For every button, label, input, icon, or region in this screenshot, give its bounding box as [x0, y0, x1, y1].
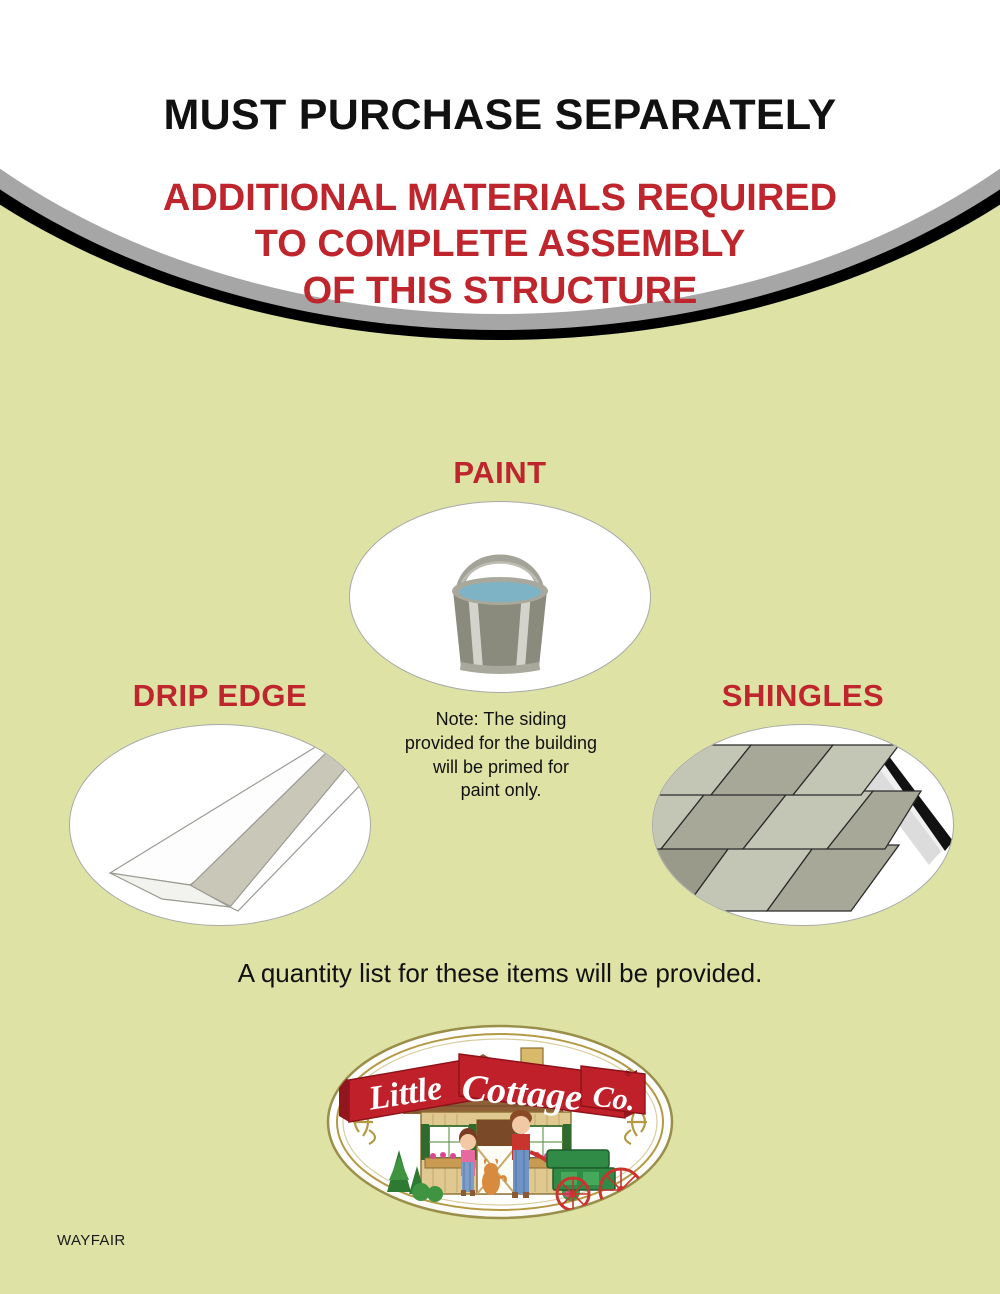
drip-edge-icon: [69, 724, 371, 926]
poster-page: MUST PURCHASE SEPARATELY ADDITIONAL MATE…: [0, 0, 1000, 1294]
logo-word-co: Co.: [591, 1080, 637, 1118]
subtitle-line-1: ADDITIONAL MATERIALS REQUIRED: [0, 175, 1000, 221]
item-drip-edge: DRIP EDGE: [55, 678, 385, 926]
paint-note: Note: The siding provided for the buildi…: [372, 708, 630, 803]
item-shingles: SHINGLES: [638, 678, 968, 926]
subtitle-line-2: TO COMPLETE ASSEMBLY: [0, 221, 1000, 267]
item-paint: PAINT: [340, 455, 660, 693]
roof-shingles-icon: [652, 724, 954, 926]
item-shingles-label: SHINGLES: [638, 678, 968, 714]
quantity-note: A quantity list for these items will be …: [0, 958, 1000, 989]
header-text-block: MUST PURCHASE SEPARATELY ADDITIONAL MATE…: [0, 0, 1000, 314]
note-line-2: provided for the building: [372, 732, 630, 756]
page-title: MUST PURCHASE SEPARATELY: [0, 94, 1000, 137]
item-paint-label: PAINT: [340, 455, 660, 491]
header-banner: MUST PURCHASE SEPARATELY ADDITIONAL MATE…: [0, 0, 1000, 430]
note-line-3: will be primed for: [372, 756, 630, 780]
paint-bucket-icon: [349, 501, 651, 693]
note-line-1: Note: The siding: [372, 708, 630, 732]
little-cottage-co-logo: Little Cottage Co. ®: [325, 1022, 675, 1222]
logo-registered-mark: ®: [625, 1068, 632, 1078]
page-subtitle: ADDITIONAL MATERIALS REQUIRED TO COMPLET…: [0, 175, 1000, 314]
note-line-4: paint only.: [372, 779, 630, 803]
subtitle-line-3: OF THIS STRUCTURE: [0, 268, 1000, 314]
retailer-watermark: WAYFAIR: [57, 1232, 126, 1249]
item-drip-edge-label: DRIP EDGE: [55, 678, 385, 714]
